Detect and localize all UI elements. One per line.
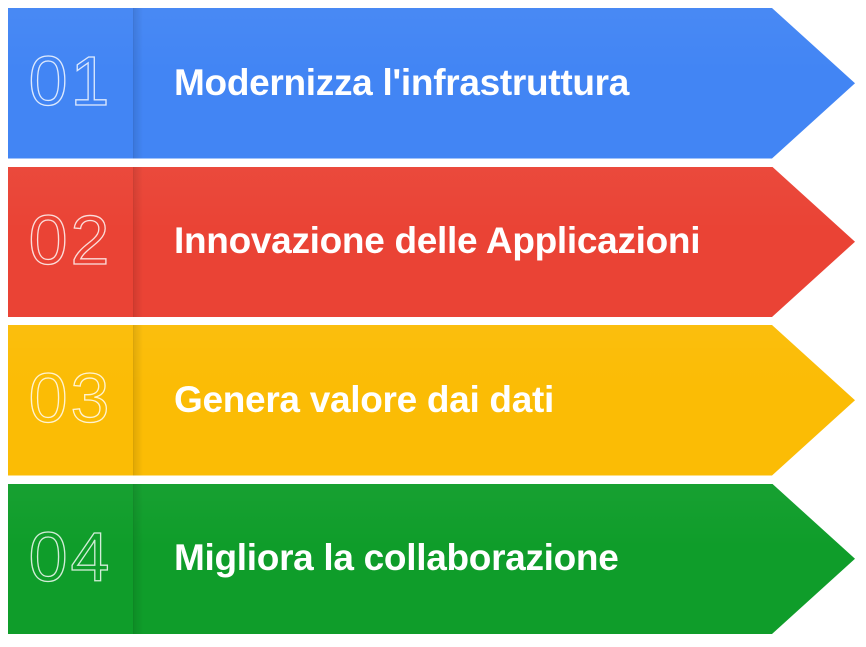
banner-divider [133, 325, 142, 476]
banner-body: Migliora la collaborazione [142, 484, 858, 635]
banner-row[interactable]: 01 Modernizza l'infrastruttura [8, 8, 858, 159]
banner-number-plate: 01 [8, 8, 133, 159]
banner-divider [133, 167, 142, 318]
banner-divider [133, 8, 142, 159]
banner-number: 03 [29, 363, 113, 433]
banner-list: 01 Modernizza l'infrastruttura 02 Innova… [8, 8, 858, 634]
banner-number-plate: 03 [8, 325, 133, 476]
banner-body: Innovazione delle Applicazioni [142, 167, 858, 318]
banner-title: Migliora la collaborazione [174, 538, 619, 579]
banner-title: Modernizza l'infrastruttura [174, 63, 629, 104]
banner-number: 04 [29, 522, 113, 592]
banner-row[interactable]: 02 Innovazione delle Applicazioni [8, 167, 858, 318]
banner-row[interactable]: 03 Genera valore dai dati [8, 325, 858, 476]
banner-title: Innovazione delle Applicazioni [174, 221, 700, 262]
banner-body: Genera valore dai dati [142, 325, 858, 476]
banner-number-plate: 04 [8, 484, 133, 635]
banner-row[interactable]: 04 Migliora la collaborazione [8, 484, 858, 635]
banner-body: Modernizza l'infrastruttura [142, 8, 858, 159]
banner-number: 01 [29, 46, 113, 116]
banner-number-plate: 02 [8, 167, 133, 318]
banner-number: 02 [29, 205, 113, 275]
arrow-banner-graphic: 01 Modernizza l'infrastruttura 02 Innova… [0, 0, 866, 647]
banner-title: Genera valore dai dati [174, 380, 554, 421]
banner-divider [133, 484, 142, 635]
